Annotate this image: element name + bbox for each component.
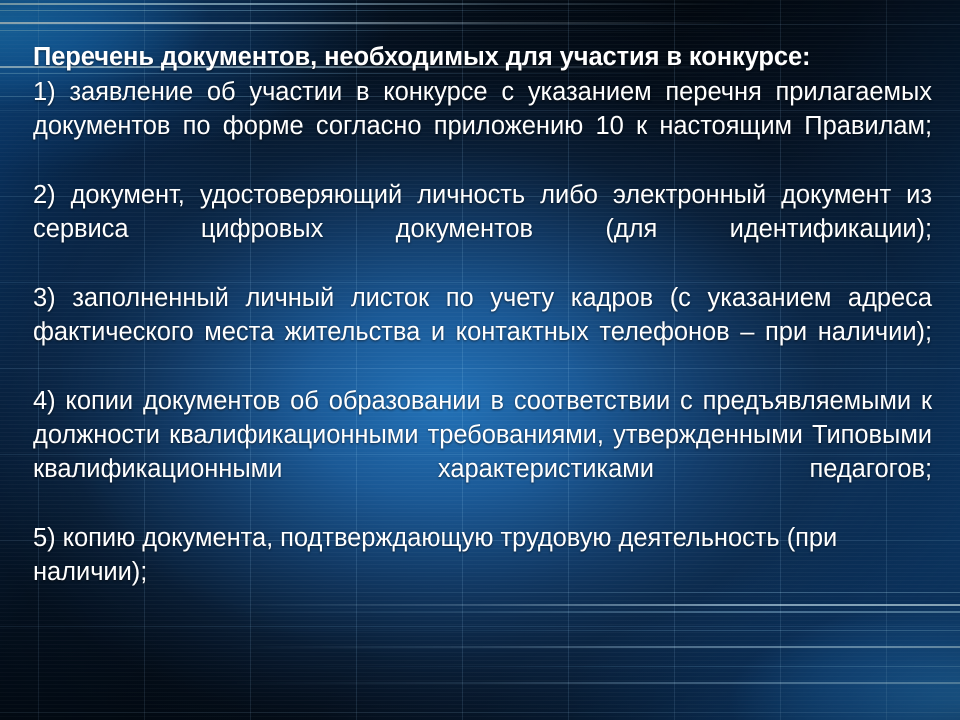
- document-list-item-1: 1) заявление об участии в конкурсе с ука…: [33, 75, 932, 178]
- slide-background-light-streaks-bottom: [0, 578, 960, 720]
- presentation-slide: Перечень документов, необходимых для уча…: [0, 0, 960, 720]
- document-list-item-4: 4) копии документов об образовании в соо…: [33, 384, 932, 521]
- slide-title: Перечень документов, необходимых для уча…: [33, 40, 932, 74]
- document-list-item-5: 5) копию документа, подтверждающую трудо…: [33, 521, 932, 590]
- document-list-item-3: 3) заполненный личный листок по учету ка…: [33, 281, 932, 384]
- document-list-item-2: 2) документ, удостоверяющий личность либ…: [33, 178, 932, 281]
- slide-content: Перечень документов, необходимых для уча…: [33, 40, 932, 590]
